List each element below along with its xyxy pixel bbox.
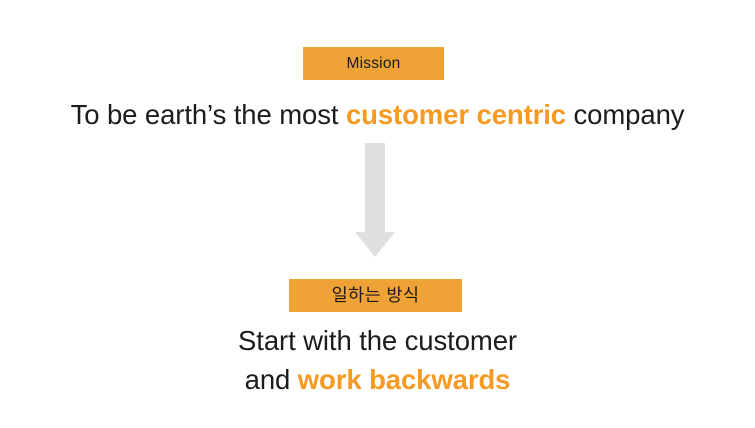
slide-canvas: Mission To be earth’s the most customer … [0,0,755,428]
mission-chip-text: Mission [347,56,401,72]
principle-line-1-text: Start with the customer [238,325,517,356]
principle-line-1: Start with the customer [0,326,755,357]
way-of-working-label-chip: 일하는 방식 [289,279,462,312]
principle-line-2-prefix: and [245,364,298,395]
down-arrow-icon [353,143,397,259]
way-of-working-chip-text: 일하는 방식 [332,287,420,305]
mission-statement-prefix: To be earth’s the most [71,99,346,130]
mission-statement-highlight: customer centric [346,99,566,130]
mission-statement-suffix: company [566,99,684,130]
principle-line-2-highlight: work backwards [298,364,511,395]
mission-statement: To be earth’s the most customer centric … [0,100,755,131]
mission-label-chip: Mission [303,47,444,80]
principle-line-2: and work backwards [0,365,755,396]
